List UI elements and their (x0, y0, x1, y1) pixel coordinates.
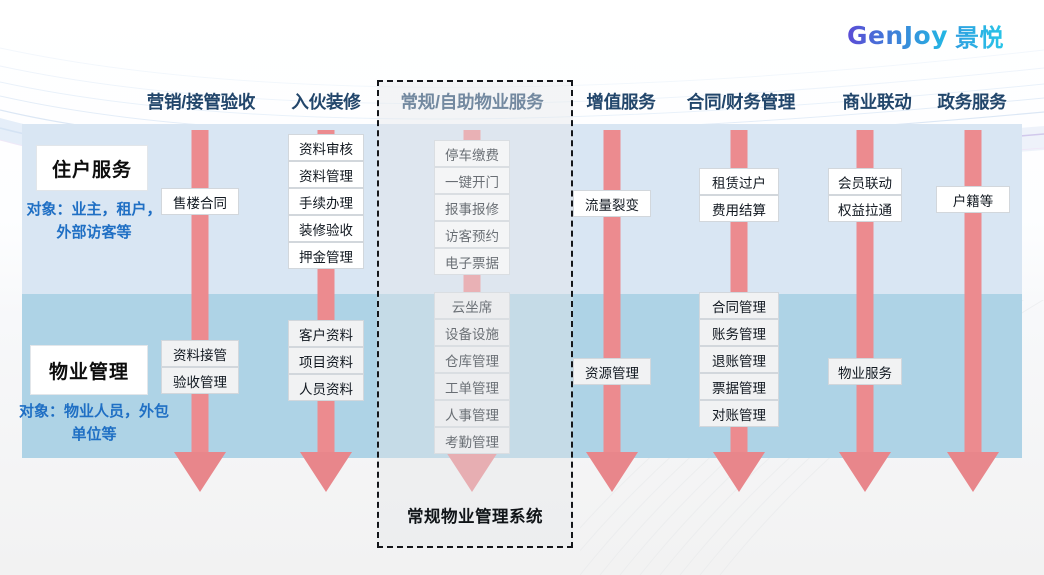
highlight-box-caption: 常规物业管理系统 (377, 503, 573, 527)
node-bot-c2-3[interactable]: 人员资料 (288, 374, 364, 401)
arrow-head (839, 452, 891, 492)
column-header-6: 商业联动 (842, 89, 911, 114)
node-bot-c5-4[interactable]: 票据管理 (699, 373, 779, 400)
node-bot-c4-1[interactable]: 资源管理 (573, 358, 651, 385)
column-header-4: 增值服务 (586, 89, 655, 114)
arrow-head (586, 452, 638, 492)
node-top-c1-1[interactable]: 售楼合同 (161, 188, 239, 215)
node-bot-c1-1[interactable]: 资料接管 (161, 340, 239, 367)
highlight-box-regular-pm-system (377, 80, 573, 548)
node-top-c2-5[interactable]: 押金管理 (288, 242, 364, 269)
node-bot-c5-2[interactable]: 账务管理 (699, 319, 779, 346)
arrow-shaft (965, 130, 982, 456)
node-top-c6-1[interactable]: 会员联动 (828, 168, 902, 195)
node-bot-c5-1[interactable]: 合同管理 (699, 292, 779, 319)
row-subject-resident: 对象：业主，租户，外部访客等 (24, 198, 164, 245)
node-bot-c1-2[interactable]: 验收管理 (161, 367, 239, 394)
row-title-resident: 住户服务 (36, 145, 148, 191)
node-top-c2-1[interactable]: 资料审核 (288, 134, 364, 161)
row-title-resident-label: 住户服务 (52, 155, 132, 182)
arrow-head (713, 452, 765, 492)
column-header-5: 合同/财务管理 (687, 89, 795, 114)
node-bot-c5-5[interactable]: 对账管理 (699, 400, 779, 427)
node-top-c2-3[interactable]: 手续办理 (288, 188, 364, 215)
node-top-c5-2[interactable]: 费用结算 (699, 195, 779, 222)
node-bot-c6-1[interactable]: 物业服务 (828, 358, 902, 385)
node-top-c7-1[interactable]: 户籍等 (936, 186, 1010, 213)
row-title-property: 物业管理 (30, 345, 148, 395)
node-bot-c2-2[interactable]: 项目资料 (288, 347, 364, 374)
arrow-head (174, 452, 226, 492)
column-header-1: 营销/接管验收 (147, 89, 255, 114)
column-header-2: 入伙装修 (291, 89, 360, 114)
node-top-c6-2[interactable]: 权益拉通 (828, 195, 902, 222)
logo-wordmark-cn: 景悦 (955, 18, 1004, 53)
logo-wordmark: GenJoy (847, 21, 948, 50)
node-bot-c2-1[interactable]: 客户资料 (288, 320, 364, 347)
arrow-head (947, 452, 999, 492)
arrow-shaft (192, 130, 209, 456)
row-subject-property: 对象：物业人员，外包单位等 (18, 400, 170, 447)
brand-logo: GenJoy 景悦 (847, 18, 1004, 53)
arrow-shaft (604, 130, 621, 456)
row-title-property-label: 物业管理 (49, 357, 129, 384)
arrow-head (300, 452, 352, 492)
node-top-c5-1[interactable]: 租赁过户 (699, 168, 779, 195)
node-bot-c5-3[interactable]: 退账管理 (699, 346, 779, 373)
node-top-c2-2[interactable]: 资料管理 (288, 161, 364, 188)
node-top-c2-4[interactable]: 装修验收 (288, 215, 364, 242)
node-top-c4-1[interactable]: 流量裂变 (573, 190, 651, 217)
column-header-7: 政务服务 (937, 89, 1006, 114)
